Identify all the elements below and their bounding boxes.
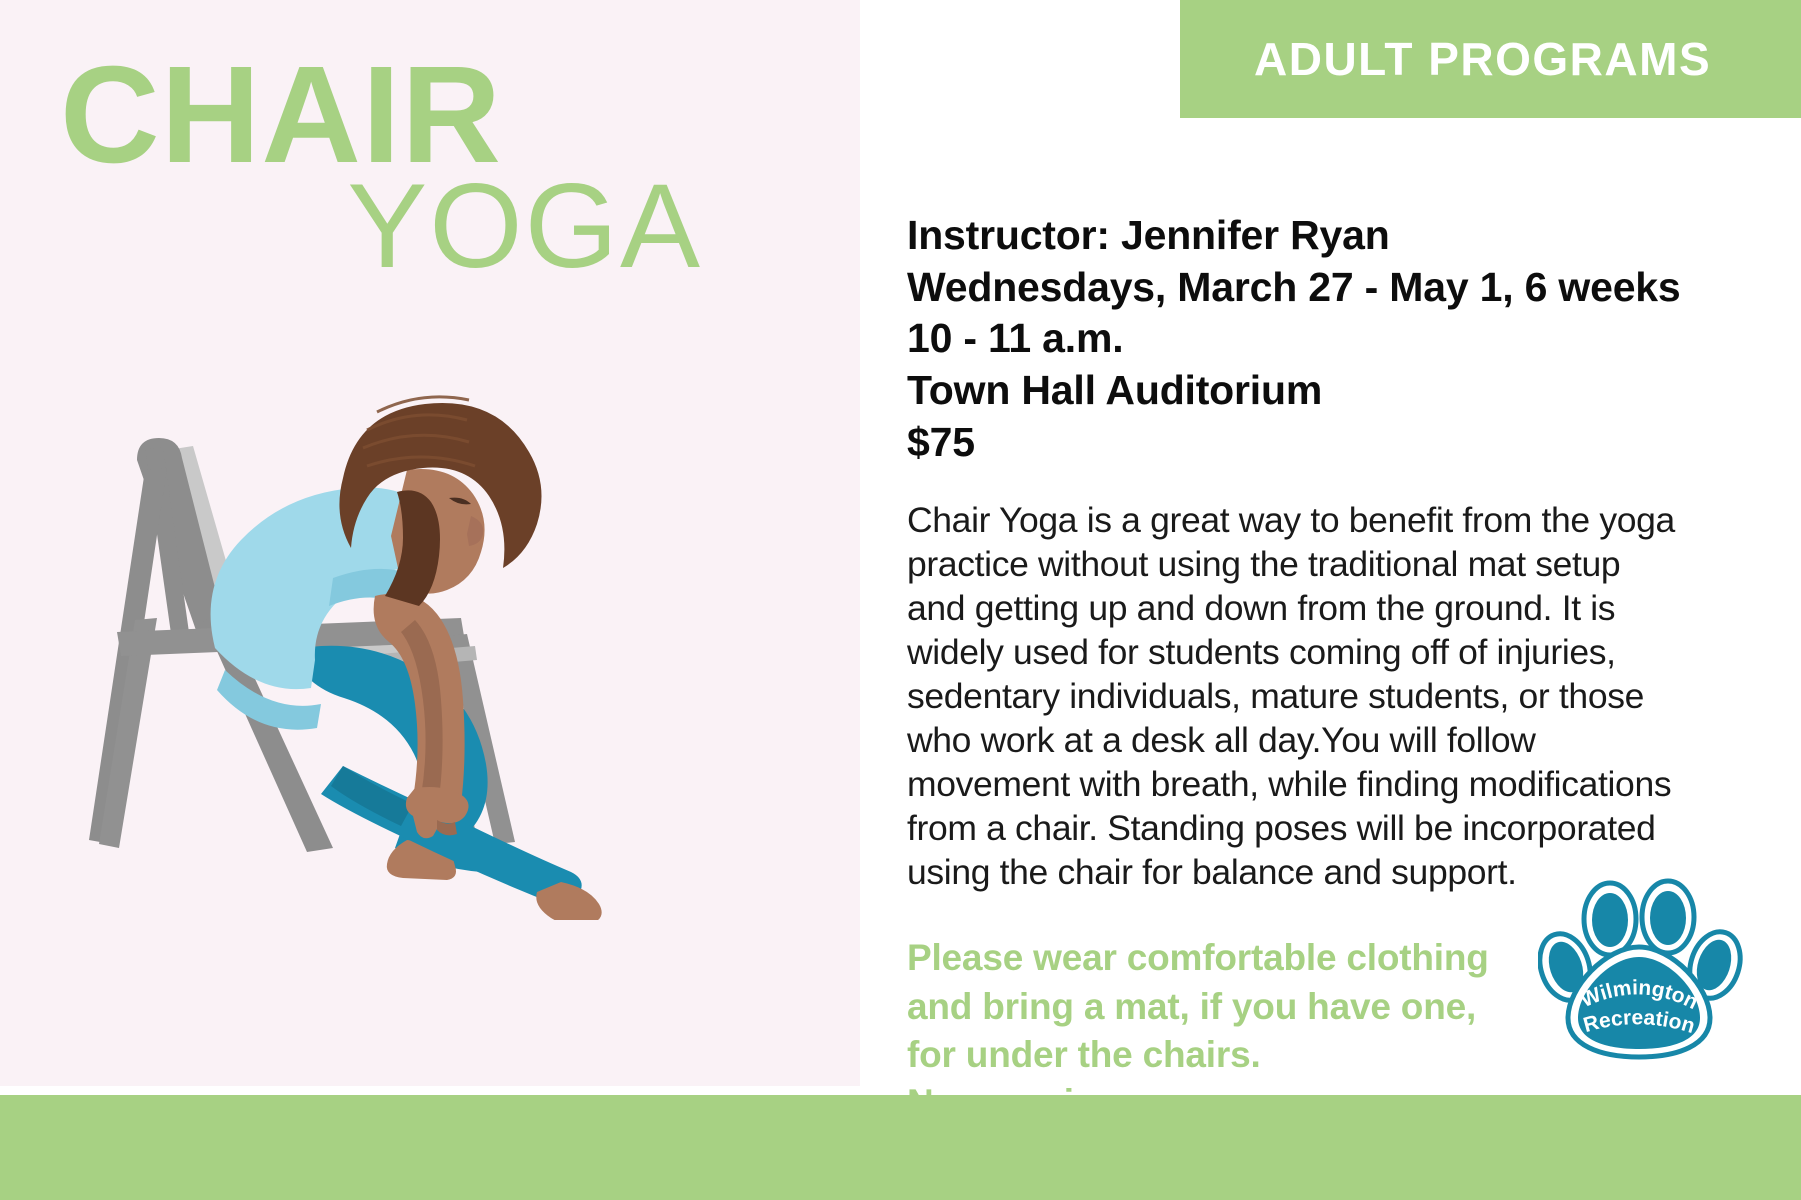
page-title: CHAIR YOGA — [60, 52, 760, 281]
seated-person-graphic — [211, 397, 602, 920]
detail-schedule: Wednesdays, March 27 - May 1, 6 weeks — [907, 262, 1747, 314]
description-line: and getting up and down from the ground.… — [907, 586, 1667, 630]
detail-instructor: Instructor: Jennifer Ryan — [907, 210, 1747, 262]
program-details: Instructor: Jennifer Ryan Wednesdays, Ma… — [907, 210, 1747, 468]
footer-green-bar — [0, 1095, 1801, 1200]
description-line: widely used for students coming off of i… — [907, 630, 1667, 674]
detail-time: 10 - 11 a.m. — [907, 313, 1747, 365]
wilmington-recreation-paw-logo: Wilmington Recreation — [1538, 875, 1753, 1065]
description-line: Chair Yoga is a great way to benefit fro… — [907, 498, 1667, 542]
description-line: practice without using the traditional m… — [907, 542, 1667, 586]
program-description: Chair Yoga is a great way to benefit fro… — [907, 498, 1667, 894]
description-line: from a chair. Standing poses will be inc… — [907, 806, 1667, 850]
flyer-canvas: CHAIR YOGA — [0, 0, 1801, 1200]
detail-price: $75 — [907, 417, 1747, 469]
description-line: movement with breath, while finding modi… — [907, 762, 1667, 806]
description-line: sedentary individuals, mature students, … — [907, 674, 1667, 718]
banner-label: ADULT PROGRAMS — [1254, 32, 1711, 86]
chair-yoga-illustration — [75, 320, 775, 920]
adult-programs-banner: ADULT PROGRAMS — [1180, 0, 1801, 118]
description-line: who work at a desk all day.You will foll… — [907, 718, 1667, 762]
detail-location: Town Hall Auditorium — [907, 365, 1747, 417]
paw-icon: Wilmington Recreation — [1538, 881, 1748, 1057]
